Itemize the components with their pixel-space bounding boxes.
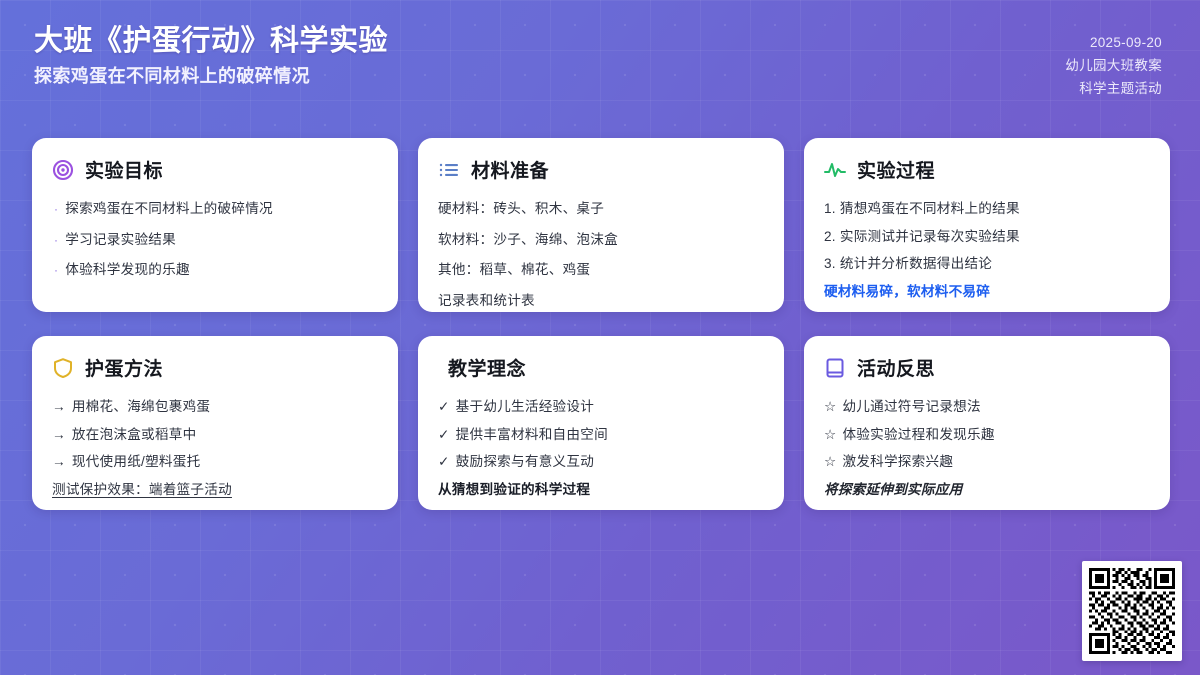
list-item-text: 用棉花、海绵包裹鸡蛋 [72, 399, 210, 414]
target-icon [52, 159, 74, 181]
star-marker: ☆ [824, 399, 836, 414]
list-item: ·学习记录实验结果 [52, 230, 378, 250]
list-item: ☆幼儿通过符号记录想法 [824, 397, 1150, 417]
shield-icon [52, 357, 74, 379]
list-icon [438, 159, 460, 181]
activity-pulse-icon [824, 159, 846, 181]
list-item-text: 学习记录实验结果 [65, 232, 176, 247]
check-marker: ✓ [438, 454, 450, 469]
list-item: ✓提供丰富材料和自由空间 [438, 425, 764, 445]
list-item: ·体验科学发现的乐趣 [52, 260, 378, 280]
card-goals[interactable]: 实验目标 ·探索鸡蛋在不同材料上的破碎情况 ·学习记录实验结果 ·体验科学发现的… [32, 138, 398, 312]
list-item: 记录表和统计表 [438, 291, 764, 311]
qr-code-image [1089, 568, 1175, 654]
star-marker: ☆ [824, 454, 836, 469]
list-item: ✓基于幼儿生活经验设计 [438, 397, 764, 417]
card-methods-body: →用棉花、海绵包裹鸡蛋 →放在泡沫盒或稻草中 →现代使用纸/塑料蛋托 测试保护效… [52, 397, 378, 508]
card-materials[interactable]: 材料准备 硬材料：砖头、积木、桌子 软材料：沙子、海绵、泡沫盒 其他：稻草、棉花… [418, 138, 784, 312]
card-reflection-body: ☆幼儿通过符号记录想法 ☆体验实验过程和发现乐趣 ☆激发科学探索兴趣 将探索延伸… [824, 397, 1150, 508]
list-item: →现代使用纸/塑料蛋托 [52, 452, 378, 472]
page-subtitle: 探索鸡蛋在不同材料上的破碎情况 [34, 66, 388, 88]
list-item-text: 激发科学探索兴趣 [842, 454, 953, 469]
card-goals-body: ·探索鸡蛋在不同材料上的破碎情况 ·学习记录实验结果 ·体验科学发现的乐趣 [52, 199, 378, 291]
list-item: ·探索鸡蛋在不同材料上的破碎情况 [52, 199, 378, 219]
card-philosophy-body: ✓基于幼儿生活经验设计 ✓提供丰富材料和自由空间 ✓鼓励探索与有意义互动 从猜想… [438, 397, 764, 508]
list-item-text: 提供丰富材料和自由空间 [456, 427, 608, 442]
list-item: 其他：稻草、棉花、鸡蛋 [438, 260, 764, 280]
methods-footnote: 测试保护效果：端着篮子活动 [52, 480, 378, 500]
card-philosophy-header: 教学理念 [438, 354, 764, 381]
meta-category: 幼儿园大班教案 [1065, 57, 1162, 75]
list-item: 3. 统计并分析数据得出结论 [824, 254, 1150, 274]
list-item: 2. 实际测试并记录每次实验结果 [824, 227, 1150, 247]
list-item-text: 幼儿通过符号记录想法 [842, 399, 980, 414]
list-item: ☆体验实验过程和发现乐趣 [824, 425, 1150, 445]
bullet-dot: · [54, 202, 58, 216]
list-item: 软材料：沙子、海绵、泡沫盒 [438, 230, 764, 250]
slide-header: 大班《护蛋行动》科学实验 探索鸡蛋在不同材料上的破碎情况 2025-09-20 … [0, 0, 1200, 120]
qr-code[interactable] [1082, 561, 1182, 661]
meta-theme: 科学主题活动 [1079, 80, 1162, 98]
list-item: →用棉花、海绵包裹鸡蛋 [52, 397, 378, 417]
cards-grid: 实验目标 ·探索鸡蛋在不同材料上的破碎情况 ·学习记录实验结果 ·体验科学发现的… [32, 138, 1168, 510]
list-item-text: 基于幼儿生活经验设计 [456, 399, 594, 414]
list-item: ☆激发科学探索兴趣 [824, 452, 1150, 472]
card-methods-title: 护蛋方法 [85, 354, 163, 381]
header-meta-block: 2025-09-20 幼儿园大班教案 科学主题活动 [1065, 26, 1162, 99]
list-item: 1. 猜想鸡蛋在不同材料上的结果 [824, 199, 1150, 219]
header-title-block: 大班《护蛋行动》科学实验 探索鸡蛋在不同材料上的破碎情况 [34, 26, 388, 87]
card-reflection-header: 活动反思 [824, 354, 1150, 381]
check-marker: ✓ [438, 399, 450, 414]
book-icon [824, 357, 846, 379]
reflection-footnote: 将探索延伸到实际应用 [824, 480, 1150, 500]
list-item-text: 体验实验过程和发现乐趣 [842, 427, 994, 442]
list-item-text: 探索鸡蛋在不同材料上的破碎情况 [65, 201, 273, 216]
bullet-dot: · [54, 263, 58, 277]
list-item-text: 鼓励探索与有意义互动 [456, 454, 594, 469]
card-methods-header: 护蛋方法 [52, 354, 378, 381]
card-reflection-title: 活动反思 [857, 354, 935, 381]
check-marker: ✓ [438, 427, 450, 442]
page-title: 大班《护蛋行动》科学实验 [34, 26, 388, 58]
list-item-text: 体验科学发现的乐趣 [65, 262, 190, 277]
card-materials-body: 硬材料：砖头、积木、桌子 软材料：沙子、海绵、泡沫盒 其他：稻草、棉花、鸡蛋 记… [438, 199, 764, 322]
arrow-marker: → [52, 427, 66, 442]
conclusion-highlight: 硬材料易碎，软材料不易碎 [824, 282, 1150, 302]
arrow-marker: → [52, 399, 66, 414]
bullet-dot: · [54, 233, 58, 247]
card-process-body: 1. 猜想鸡蛋在不同材料上的结果 2. 实际测试并记录每次实验结果 3. 统计并… [824, 199, 1150, 310]
meta-date: 2025-09-20 [1090, 34, 1162, 52]
list-item-text: 放在泡沫盒或稻草中 [72, 427, 197, 442]
card-goals-header: 实验目标 [52, 156, 378, 183]
card-materials-header: 材料准备 [438, 156, 764, 183]
philosophy-footnote: 从猜想到验证的科学过程 [438, 480, 764, 500]
arrow-marker: → [52, 454, 66, 469]
list-item: 硬材料：砖头、积木、桌子 [438, 199, 764, 219]
card-process-title: 实验过程 [857, 156, 935, 183]
card-methods[interactable]: 护蛋方法 →用棉花、海绵包裹鸡蛋 →放在泡沫盒或稻草中 →现代使用纸/塑料蛋托 … [32, 336, 398, 510]
card-goals-title: 实验目标 [85, 156, 163, 183]
card-process-header: 实验过程 [824, 156, 1150, 183]
slide-root: 大班《护蛋行动》科学实验 探索鸡蛋在不同材料上的破碎情况 2025-09-20 … [0, 0, 1200, 675]
star-marker: ☆ [824, 427, 836, 442]
card-philosophy[interactable]: 教学理念 ✓基于幼儿生活经验设计 ✓提供丰富材料和自由空间 ✓鼓励探索与有意义互… [418, 336, 784, 510]
card-materials-title: 材料准备 [471, 156, 549, 183]
list-item: ✓鼓励探索与有意义互动 [438, 452, 764, 472]
list-item: →放在泡沫盒或稻草中 [52, 425, 378, 445]
card-reflection[interactable]: 活动反思 ☆幼儿通过符号记录想法 ☆体验实验过程和发现乐趣 ☆激发科学探索兴趣 … [804, 336, 1170, 510]
card-process[interactable]: 实验过程 1. 猜想鸡蛋在不同材料上的结果 2. 实际测试并记录每次实验结果 3… [804, 138, 1170, 312]
list-item-text: 现代使用纸/塑料蛋托 [72, 454, 201, 469]
card-philosophy-title: 教学理念 [448, 354, 526, 381]
